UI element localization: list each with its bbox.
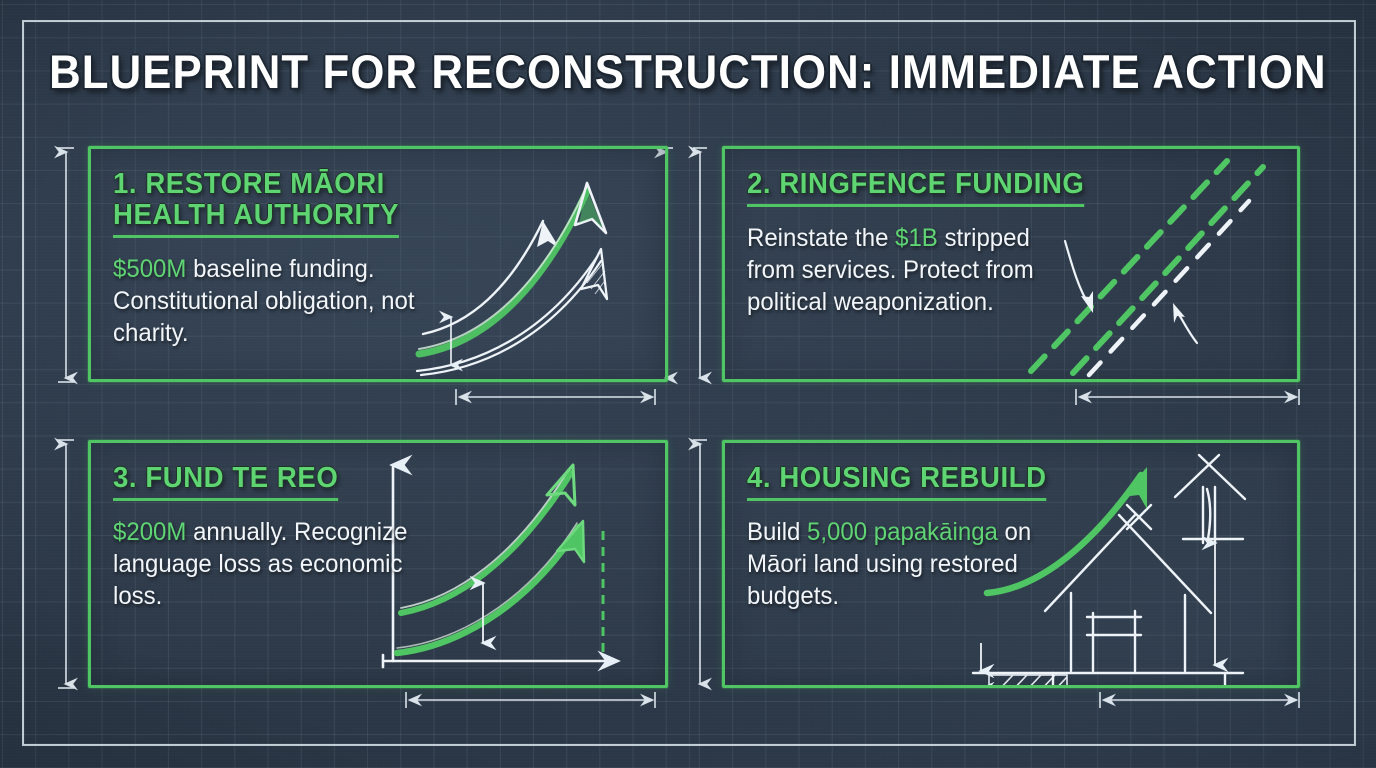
panel-1-heading: 1. RESTORE MĀORI HEALTH AUTHORITY [113,169,399,238]
panel-2-text: Reinstate the $1B stripped from services… [747,222,1078,318]
panel-2-text-pre: Reinstate the [747,224,895,252]
panel-3-heading: 3. FUND TE REO [113,463,338,501]
panel-1-highlight: $500M [113,255,186,283]
panel-4-highlight: 5,000 papakāinga [807,518,998,546]
panel-4-body: 4. HOUSING REBUILD Build 5,000 papakāing… [725,443,1297,685]
panel-2-body: 2. RINGFENCE FUNDING Reinstate the $1B s… [725,149,1297,379]
panel-2-heading: 2. RINGFENCE FUNDING [747,169,1084,207]
panel-4-heading: 4. HOUSING REBUILD [747,463,1047,501]
panel-housing-rebuild[interactable]: PAPAKĀINGA DEVELOPMENT RESTORED BUDGETS … [722,440,1300,688]
panel-4-text-pre: Build [747,518,807,546]
blueprint-canvas: BLUEPRINT FOR RECONSTRUCTION: IMMEDIATE … [0,0,1376,768]
panel-3-body: 3. FUND TE REO $200M annually. Recognize… [91,443,665,685]
panel-4-text: Build 5,000 papakāinga on Māori land usi… [747,516,1035,612]
panel-restore-maori-health-authority[interactable]: FUNDING FLOW CAPACITY BUILD 1. RESTORE M… [88,146,668,382]
panel-1-body: 1. RESTORE MĀORI HEALTH AUTHORITY $500M … [91,149,665,379]
page-title: BLUEPRINT FOR RECONSTRUCTION: IMMEDIATE … [49,44,1327,99]
panel-ringfence-funding[interactable]: SECURE ALLOCATION PROTECTION ZONE 2. RIN… [722,146,1300,382]
page-title-container: BLUEPRINT FOR RECONSTRUCTION: IMMEDIATE … [0,44,1376,99]
panel-3-text: $200M annually. Recognize language loss … [113,516,430,612]
panel-1-text: $500M baseline funding. Constitutional o… [113,253,459,349]
panel-2-highlight: $1B [895,224,938,252]
panel-3-highlight: $200M [113,518,186,546]
panel-fund-te-reo[interactable]: LANGUAGE REVITALIZATION CULTURAL VALUE 3… [88,440,668,688]
diagram-label-funding-flow: FUNDING FLOW [575,381,668,382]
